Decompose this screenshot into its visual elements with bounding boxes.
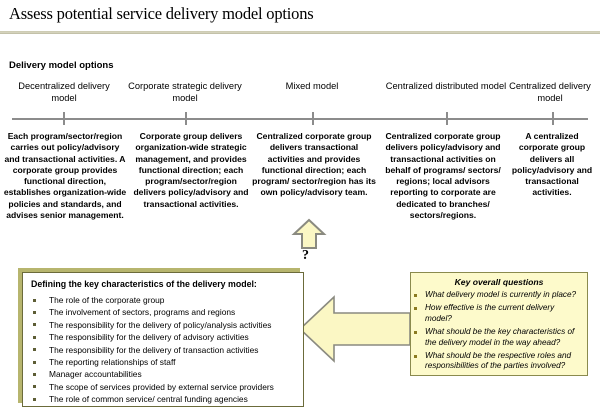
characteristics-title: Defining the key characteristics of the … xyxy=(31,279,257,289)
list-item: The scope of services provided by extern… xyxy=(31,381,299,393)
axis-tick-3 xyxy=(312,112,314,125)
page-title: Assess potential service delivery model … xyxy=(9,4,314,24)
characteristics-list: The role of the corporate group The invo… xyxy=(31,294,299,406)
list-item: The responsibility for the delivery of a… xyxy=(31,331,299,343)
column-body-corporate-strategic: Corporate group delivers organization-wi… xyxy=(131,131,251,210)
axis-tick-5 xyxy=(552,112,554,125)
title-divider xyxy=(0,31,600,34)
column-header-centralized-distributed: Centralized distributed model xyxy=(382,80,510,92)
column-header-mixed: Mixed model xyxy=(254,80,370,92)
key-questions-panel: Key overall questions What delivery mode… xyxy=(410,272,588,376)
column-header-decentralized: Decentralized delivery model xyxy=(14,80,114,104)
characteristics-panel: Defining the key characteristics of the … xyxy=(22,272,304,407)
spectrum-axis xyxy=(12,118,588,120)
column-body-mixed: Centralized corporate group delivers tra… xyxy=(252,131,376,199)
left-arrow-icon xyxy=(298,292,412,371)
column-header-corporate-strategic: Corporate strategic delivery model xyxy=(124,80,246,104)
question-mark-annotation: ? xyxy=(302,248,309,264)
list-item: The responsibility for the delivery of p… xyxy=(31,319,299,331)
key-questions-list: What delivery model is currently in plac… xyxy=(411,290,587,372)
column-body-centralized: A centralized corporate group delivers a… xyxy=(507,131,597,199)
column-body-centralized-distributed: Centralized corporate group delivers pol… xyxy=(379,131,507,221)
axis-tick-1 xyxy=(63,112,65,125)
column-body-decentralized: Each program/sector/region carries out p… xyxy=(2,131,128,221)
list-item: Manager accountabilities xyxy=(31,368,299,380)
list-item: How effective is the current delivery mo… xyxy=(411,303,587,324)
key-questions-title: Key overall questions xyxy=(411,277,587,287)
list-item: The role of the corporate group xyxy=(31,294,299,306)
up-arrow-icon xyxy=(291,218,327,255)
list-item: What should be the respective roles and … xyxy=(411,351,587,372)
axis-tick-2 xyxy=(185,112,187,125)
list-item: The responsibility for the delivery of t… xyxy=(31,344,299,356)
column-header-centralized: Centralized delivery model xyxy=(500,80,600,104)
section-label: Delivery model options xyxy=(9,60,114,71)
list-item: What delivery model is currently in plac… xyxy=(411,290,587,300)
list-item: The reporting relationships of staff xyxy=(31,356,299,368)
list-item: The role of common service/ central fund… xyxy=(31,393,299,405)
list-item: What should be the key characteristics o… xyxy=(411,327,587,348)
list-item: The involvement of sectors, programs and… xyxy=(31,306,299,318)
axis-tick-4 xyxy=(446,112,448,125)
